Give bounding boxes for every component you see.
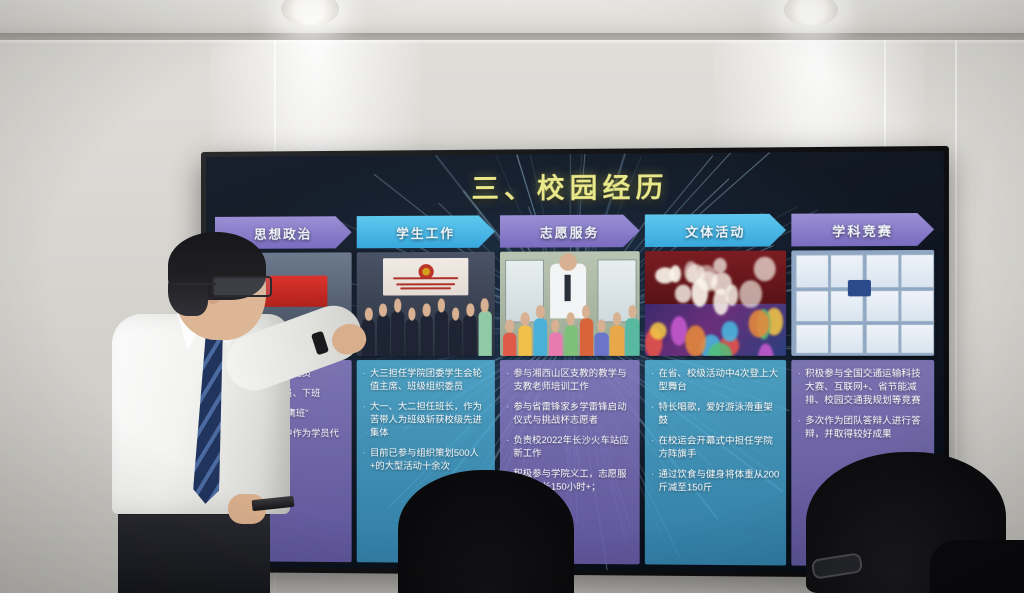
- photo-person: [377, 314, 390, 355]
- photo-dancer: [721, 321, 737, 342]
- bullet-dot-icon: ·: [798, 414, 801, 441]
- photo-child: [564, 326, 578, 356]
- bullet-item: ·多次作为团队答辩人进行答辩，并取得较好成果: [798, 414, 928, 441]
- bullet-item: ·在省、校级活动中4次登上大型舞台: [651, 367, 780, 394]
- column-text-panel: ·在省、校级活动中4次登上大型舞台·特长唱歌，爱好游泳滑重架鼓·在校运会开幕式中…: [645, 360, 786, 566]
- photo-certificate: [900, 254, 934, 288]
- bullet-text: 参与湘西山区支教的教学与支教老师培训工作: [513, 367, 633, 394]
- photo-certificate: [796, 290, 829, 322]
- bullet-text: 大三担任学院团委学生会轮值主席、班级组织委员: [370, 367, 489, 393]
- photo-person: [435, 310, 448, 356]
- bullet-text: 在校运会开幕式中担任学院方阵旗手: [658, 435, 779, 462]
- bullet-dot-icon: ·: [506, 434, 509, 460]
- photo-person-head: [365, 307, 373, 320]
- bullet-dot-icon: ·: [363, 447, 366, 473]
- bullet-text: 负责校2022年长沙火车站应新工作: [513, 434, 633, 461]
- photo-person-head: [437, 299, 445, 313]
- bullet-item: ·在校运会开幕式中担任学院方阵旗手: [651, 434, 780, 461]
- photo-child: [626, 318, 640, 356]
- bullet-item: ·参与湘西山区支教的教学与支教老师培训工作: [506, 367, 633, 394]
- presentation-scene: 三、校园经历 思想政治学生工作志愿服务文体活动学科竞赛 ·学院第一批中共党员·任…: [0, 0, 1024, 593]
- photo-child-head: [536, 305, 544, 319]
- photo-performer: [753, 257, 775, 282]
- bullet-text: 多次作为团队答辩人进行答辩，并取得较好成果: [805, 414, 928, 441]
- photo-child-head: [521, 312, 529, 326]
- photo-certificate: [865, 324, 899, 354]
- bullet-item: ·特长唱歌，爱好游泳滑重架鼓: [651, 401, 780, 428]
- photo-child: [610, 326, 624, 356]
- photo-performer: [739, 280, 762, 307]
- photo-person-head: [379, 303, 387, 316]
- photo-child: [549, 333, 563, 356]
- bullet-text: 大一、大二担任班长，作为苦带人为班级斩获校级先进集体: [370, 400, 489, 440]
- photo-person: [478, 310, 491, 356]
- photo-person: [420, 314, 433, 356]
- audience-member-right-shoulder: [930, 540, 1024, 593]
- bullet-text: 特长唱歌，爱好游泳滑重架鼓: [658, 401, 779, 428]
- column-photo: [645, 251, 786, 356]
- bullet-dot-icon: ·: [506, 401, 509, 427]
- photo-child: [595, 333, 609, 356]
- presenter-glasses-icon: [212, 276, 272, 297]
- bullet-dot-icon: ·: [651, 434, 654, 461]
- photo-child-head: [506, 319, 514, 333]
- bullet-text: 参与省雷锋家乡学雷锋启动仪式与挑战杯志愿者: [513, 401, 633, 428]
- column-header-2[interactable]: 学生工作: [357, 215, 495, 248]
- photo-person: [391, 310, 404, 356]
- bullet-dot-icon: ·: [363, 400, 366, 439]
- bullet-item: ·参与省雷锋家乡学雷锋启动仪式与挑战杯志愿者: [506, 401, 633, 428]
- photo-certificate: [796, 255, 829, 289]
- presenter-hair-side: [168, 266, 208, 316]
- column-header-3[interactable]: 志愿服务: [500, 215, 640, 248]
- photo-teacher-head: [560, 253, 577, 270]
- bullet-text: 在省、校级活动中4次登上大型舞台: [658, 367, 779, 394]
- bullet-text: 积极参与全国交通运输科技大赛、互联网+、省节能减排、校园交通我规划等竞赛: [805, 367, 928, 407]
- bullet-dot-icon: ·: [506, 367, 509, 393]
- photo-performer: [674, 284, 691, 303]
- column-header-4[interactable]: 文体活动: [645, 214, 786, 247]
- audience-member-front: [398, 470, 574, 593]
- presenter: [100, 236, 360, 593]
- bullet-item: ·大一、大二担任班长，作为苦带人为班级斩获校级先进集体: [363, 400, 489, 440]
- bullet-dot-icon: ·: [363, 367, 366, 393]
- photo-certificate: [796, 324, 829, 353]
- photo-person-head: [423, 303, 431, 317]
- photo-person-head: [481, 299, 489, 313]
- bullet-item: ·负责校2022年长沙火车站应新工作: [506, 434, 633, 461]
- slide-title: 三、校园经历: [206, 163, 944, 208]
- photo-person-head: [466, 303, 474, 317]
- photo-lanyard: [564, 274, 571, 301]
- photo-person: [464, 314, 477, 356]
- wall-top-edge: [0, 40, 1024, 44]
- bullet-dot-icon: ·: [651, 367, 654, 394]
- photo-child: [518, 326, 532, 356]
- bullet-dot-icon: ·: [651, 468, 654, 495]
- photo-certificate-highlight: [848, 280, 871, 297]
- photo-child: [533, 318, 547, 356]
- column-photo: [791, 250, 934, 356]
- photo-dancer: [650, 322, 667, 339]
- bullet-text: 通过饮食与健身将体重从200斤减至150斤: [658, 468, 779, 495]
- bullet-item: ·通过饮食与健身将体重从200斤减至150斤: [651, 468, 780, 495]
- bullet-dot-icon: ·: [651, 401, 654, 428]
- bullet-item: ·积极参与全国交通运输科技大赛、互联网+、省节能减排、校园交通我规划等竞赛: [798, 367, 928, 407]
- photo-certificate: [900, 324, 934, 354]
- banner-text-line: [400, 287, 451, 289]
- slide-column-4: ·在省、校级活动中4次登上大型舞台·特长唱歌，爱好游泳滑重架鼓·在校运会开幕式中…: [645, 251, 786, 566]
- photo-person: [449, 318, 462, 355]
- column-photo: [357, 252, 495, 356]
- photo-person: [406, 319, 419, 356]
- photo-certificate: [830, 324, 863, 354]
- photo-dancer: [685, 325, 706, 356]
- banner-text-line: [396, 283, 454, 285]
- bullet-dot-icon: ·: [798, 367, 801, 407]
- column-header-5[interactable]: 学科竞赛: [791, 213, 934, 247]
- photo-banner: [383, 258, 469, 296]
- photo-child: [579, 318, 593, 356]
- photo-certificate: [900, 290, 934, 322]
- column-photo: [500, 251, 640, 356]
- photo-child: [503, 333, 517, 356]
- photo-person-head: [394, 299, 402, 312]
- bullet-item: ·大三担任学院团委学生会轮值主席、班级组织委员: [363, 367, 489, 393]
- banner-text-line: [393, 278, 458, 280]
